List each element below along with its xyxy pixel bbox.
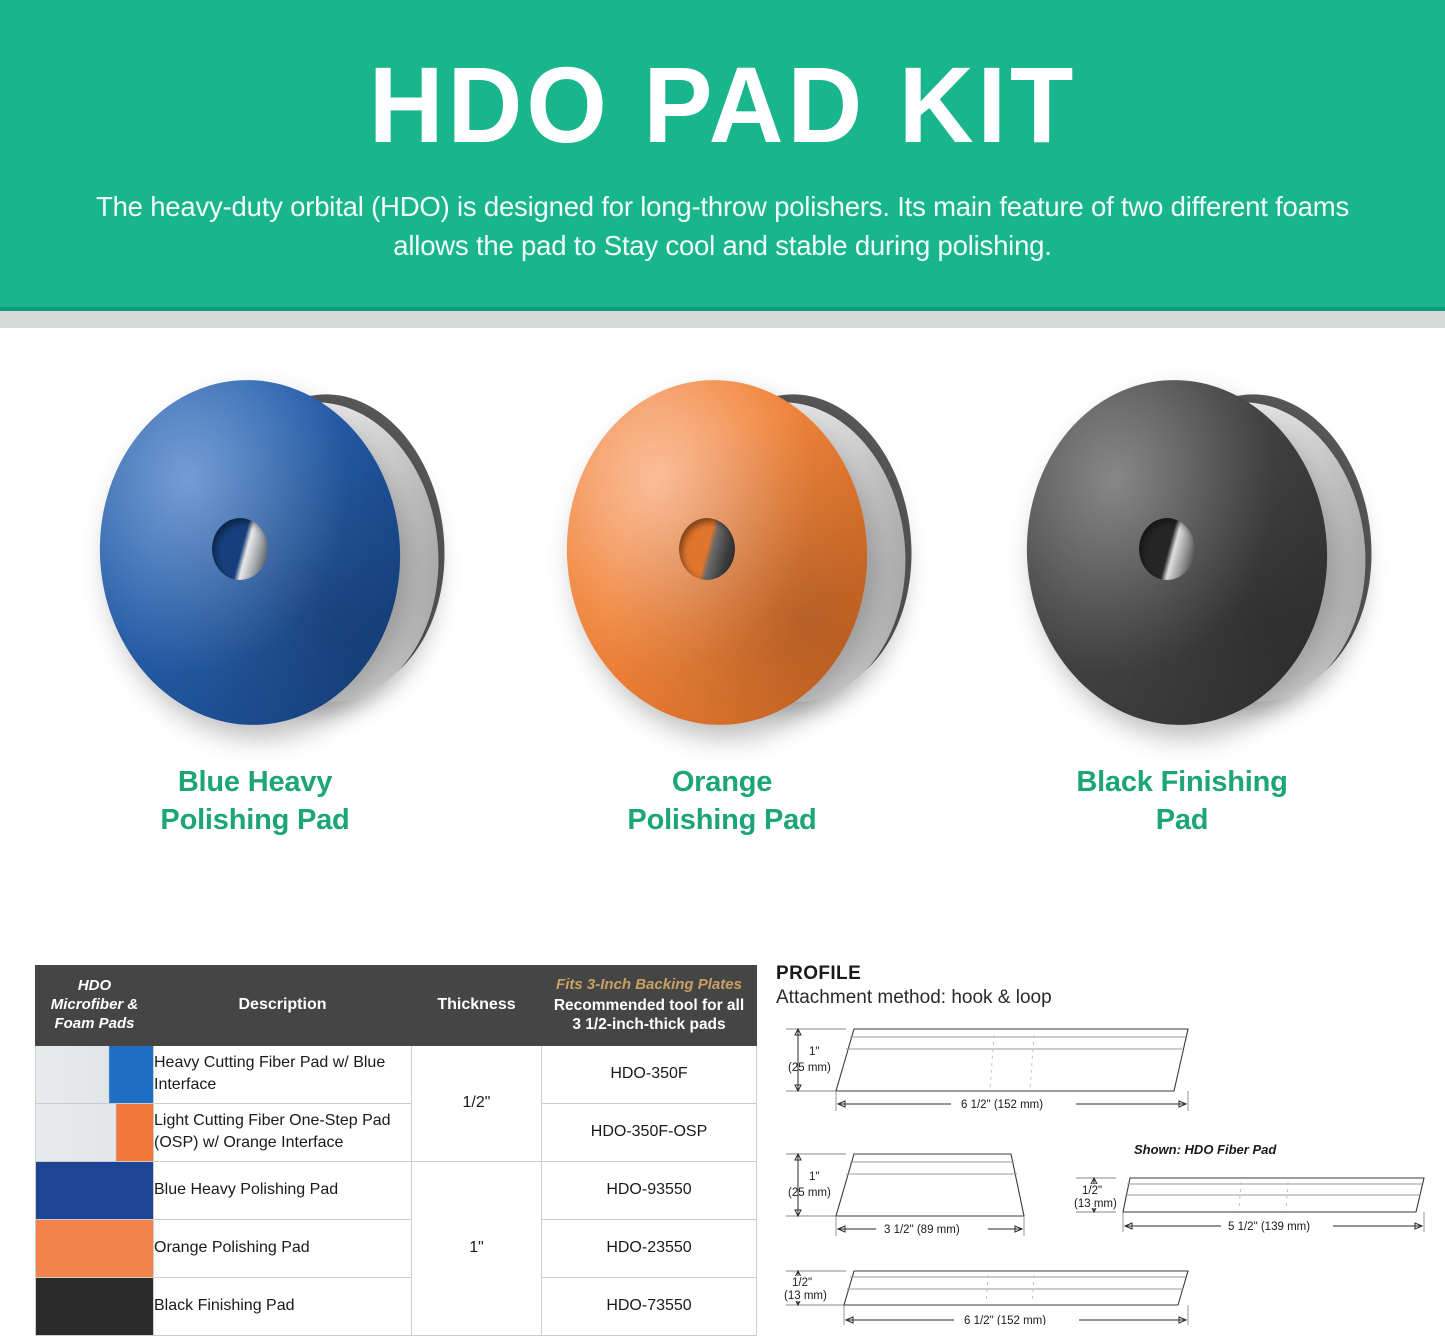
- profile-title: PROFILE: [776, 963, 1436, 985]
- dim-height-mm-4: (13 mm): [784, 1290, 827, 1302]
- table-row: Orange Polishing Pad HDO-23550: [36, 1219, 757, 1277]
- description-cell: Light Cutting Fiber One-Step Pad (OSP) w…: [154, 1103, 412, 1161]
- dim-height-in-4: 1/2": [792, 1277, 812, 1289]
- dim-width-1: 6 1/2" (152 mm): [961, 1099, 1043, 1111]
- tool-cell: HDO-350F-OSP: [542, 1103, 757, 1161]
- pad-card-orange: Orange Polishing Pad: [502, 350, 942, 880]
- table-row: Light Cutting Fiber One-Step Pad (OSP) w…: [36, 1103, 757, 1161]
- col-header-tool-gold: Fits 3-Inch Backing Plates: [548, 976, 750, 995]
- dim-height-mm-1: (25 mm): [788, 1062, 831, 1074]
- col-header-tool-white: Recommended tool for all 3 1/2-inch-thic…: [548, 997, 750, 1035]
- col-header-description: Description: [154, 966, 412, 1046]
- pad-center-hole-icon: [679, 518, 735, 580]
- diagram-caption-fiber: Shown: HDO Fiber Pad: [1134, 1142, 1277, 1157]
- tool-cell: HDO-73550: [542, 1277, 757, 1335]
- swatch-black-icon: [36, 1278, 153, 1335]
- col-header-thickness: Thickness: [412, 966, 542, 1046]
- description-cell: Orange Polishing Pad: [154, 1219, 412, 1277]
- swatch-fiber-orange-icon: [36, 1104, 153, 1161]
- profile-subtitle: Attachment method: hook & loop: [776, 987, 1436, 1009]
- diagram-small-foam-pad: 1" (25 mm) 3 1/2" (89 mm): [786, 1154, 1024, 1236]
- header-banner: HDO PAD KIT The heavy-duty orbital (HDO)…: [0, 0, 1445, 307]
- pad-image-blue: [90, 350, 420, 750]
- description-cell: Black Finishing Pad: [154, 1277, 412, 1335]
- thickness-cell: 1/2": [412, 1045, 542, 1161]
- profile-diagrams: 1" (25 mm) 6 1/2" (152 mm): [776, 1015, 1436, 1325]
- dim-width-2: 3 1/2" (89 mm): [884, 1224, 960, 1236]
- header-subtitle: The heavy-duty orbital (HDO) is designed…: [55, 187, 1390, 265]
- diagram-hdo-fiber-pad: Shown: HDO Fiber Pad 1/2" (13 mm): [1074, 1142, 1424, 1233]
- pad-image-black: [1017, 350, 1347, 750]
- page-title: HDO PAD KIT: [368, 48, 1076, 161]
- swatch-cell: [36, 1277, 154, 1335]
- infographic-page: HDO PAD KIT The heavy-duty orbital (HDO)…: [0, 0, 1445, 1337]
- col-header-tool: Fits 3-Inch Backing Plates Recommended t…: [542, 966, 757, 1046]
- table-row: Black Finishing Pad HDO-73550: [36, 1277, 757, 1335]
- swatch-cell: [36, 1103, 154, 1161]
- tool-cell: HDO-350F: [542, 1045, 757, 1103]
- tool-cell: HDO-23550: [542, 1219, 757, 1277]
- diagram-large-fiber-pad: 1/2" (13 mm) 6 1/2" (152 mm): [784, 1271, 1188, 1325]
- dim-width-3: 5 1/2" (139 mm): [1228, 1221, 1310, 1233]
- swatch-blue-icon: [36, 1162, 153, 1219]
- dim-height-mm-2: (25 mm): [788, 1187, 831, 1199]
- swatch-cell: [36, 1161, 154, 1219]
- header-gray-band: [0, 311, 1445, 328]
- dim-height-in-2: 1": [809, 1171, 819, 1183]
- swatch-cell: [36, 1045, 154, 1103]
- pad-label-blue: Blue Heavy Polishing Pad: [160, 764, 349, 839]
- dim-width-4: 6 1/2" (152 mm): [964, 1315, 1046, 1325]
- dim-height-in-1: 1": [809, 1046, 819, 1058]
- pad-card-blue: Blue Heavy Polishing Pad: [35, 350, 475, 880]
- swatch-fiber-blue-icon: [36, 1046, 153, 1103]
- table-row: Heavy Cutting Fiber Pad w/ Blue Interfac…: [36, 1045, 757, 1103]
- spec-table-body: Heavy Cutting Fiber Pad w/ Blue Interfac…: [36, 1045, 757, 1335]
- pad-label-black: Black Finishing Pad: [1076, 764, 1287, 839]
- swatch-orange-icon: [36, 1220, 153, 1277]
- pad-center-hole-icon: [1139, 518, 1195, 580]
- pad-showcase: Blue Heavy Polishing Pad Orange Polishin…: [0, 350, 1445, 880]
- col-header-swatch: HDO Microfiber & Foam Pads: [36, 966, 154, 1046]
- pad-label-orange: Orange Polishing Pad: [627, 764, 816, 839]
- diagram-large-foam-pad: 1" (25 mm) 6 1/2" (152 mm): [786, 1029, 1188, 1111]
- pad-center-hole-icon: [212, 518, 268, 580]
- table-row: Blue Heavy Polishing Pad 1" HDO-93550: [36, 1161, 757, 1219]
- thickness-cell: 1": [412, 1161, 542, 1335]
- pad-card-black: Black Finishing Pad: [962, 350, 1402, 880]
- swatch-cell: [36, 1219, 154, 1277]
- dim-height-in-3: 1/2": [1082, 1185, 1102, 1197]
- description-cell: Heavy Cutting Fiber Pad w/ Blue Interfac…: [154, 1045, 412, 1103]
- pad-image-orange: [557, 350, 887, 750]
- description-cell: Blue Heavy Polishing Pad: [154, 1161, 412, 1219]
- tool-cell: HDO-93550: [542, 1161, 757, 1219]
- profile-panel: PROFILE Attachment method: hook & loop 1…: [776, 963, 1436, 1328]
- spec-table-head: HDO Microfiber & Foam Pads Description T…: [36, 966, 757, 1046]
- spec-table: HDO Microfiber & Foam Pads Description T…: [35, 965, 757, 1336]
- dim-height-mm-3: (13 mm): [1074, 1198, 1117, 1210]
- table-header-row: HDO Microfiber & Foam Pads Description T…: [36, 966, 757, 1046]
